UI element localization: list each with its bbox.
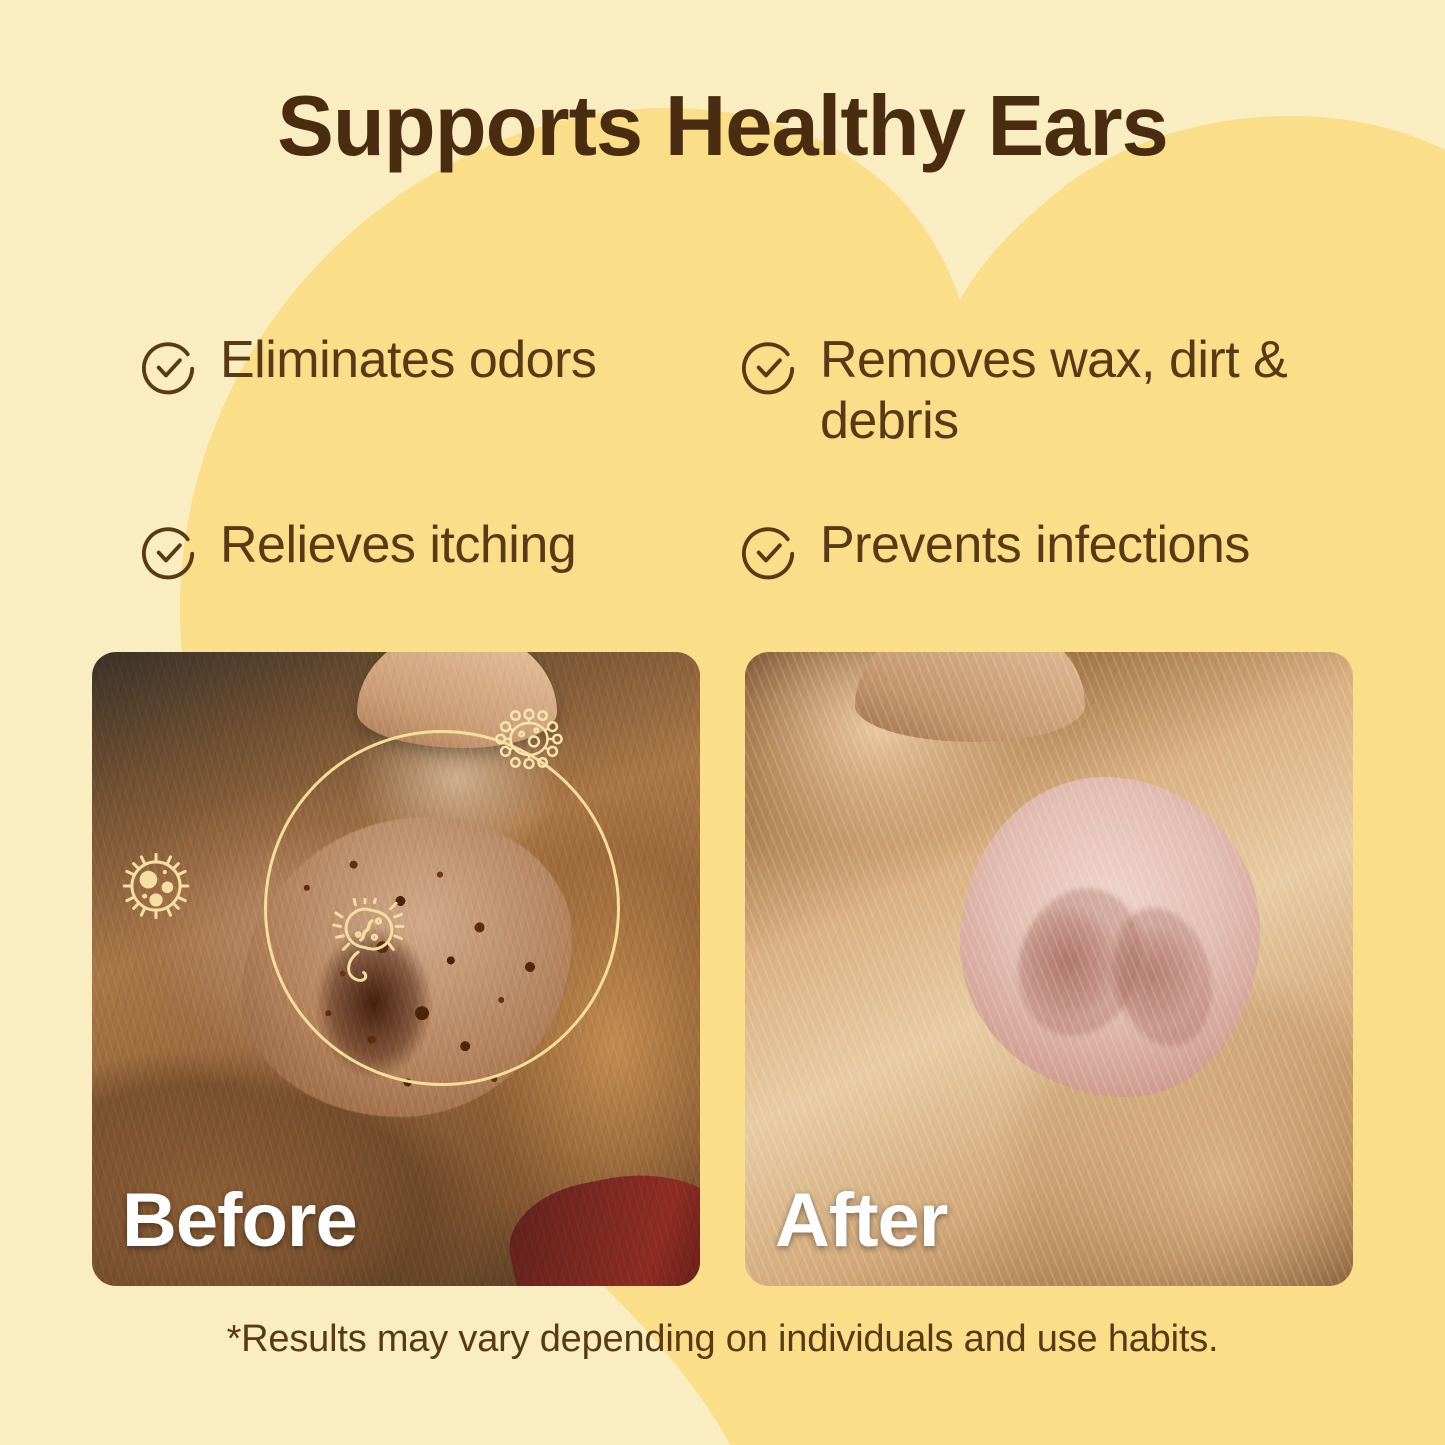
after-label: After [775,1177,947,1264]
infographic-root: Supports Healthy Ears Eliminates odors R… [0,0,1445,1445]
page-title: Supports Healthy Ears [0,78,1445,176]
after-photo-card: After [745,652,1353,1286]
benefit-label: Prevents infections [820,515,1250,576]
benefit-item-removes-wax-dirt-debris: Removes wax, dirt & debris [740,330,1320,453]
benefit-item-eliminates-odors: Eliminates odors [140,330,740,453]
benefit-label: Relieves itching [220,515,576,576]
virus-icon [492,702,566,776]
check-circle-icon [740,523,798,581]
rod-bacteria-icon [328,898,410,990]
magnifier-circle [264,730,620,1086]
before-after-comparison: Before After [92,652,1354,1286]
check-circle-icon [140,338,198,396]
before-label: Before [122,1177,357,1264]
check-circle-icon [140,523,198,581]
benefit-item-prevents-infections: Prevents infections [740,515,1320,581]
benefit-label: Removes wax, dirt & debris [820,330,1320,453]
benefit-label: Eliminates odors [220,330,596,391]
benefits-list: Eliminates odors Removes wax, dirt & deb… [140,330,1320,581]
disclaimer-footnote: *Results may vary depending on individua… [0,1318,1445,1361]
check-circle-icon [740,338,798,396]
benefit-item-relieves-itching: Relieves itching [140,515,740,581]
microbe-icon [118,848,194,924]
before-photo-card: Before [92,652,700,1286]
